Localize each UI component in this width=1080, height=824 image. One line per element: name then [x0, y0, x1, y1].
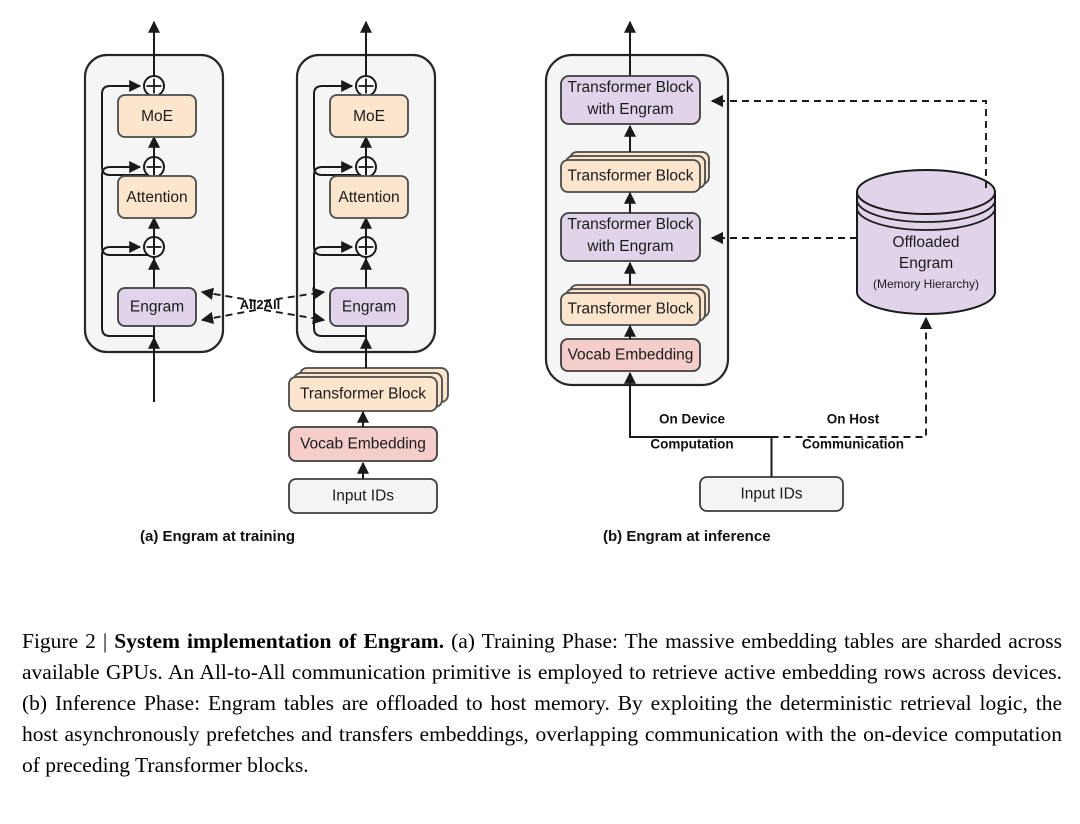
transformer-block-label-b-lower: Transformer Block: [567, 301, 693, 318]
moe-label-right: MoE: [353, 108, 385, 125]
offloaded-engram-line3: (Memory Hierarchy): [873, 277, 979, 291]
offloaded-engram-cylinder[interactable]: Offloaded Engram (Memory Hierarchy): [857, 170, 995, 314]
vocab-embedding-block-a[interactable]: Vocab Embedding: [289, 427, 437, 461]
vocab-embedding-label-b: Vocab Embedding: [568, 347, 694, 364]
attention-label-right: Attention: [338, 189, 399, 206]
transformer-block-stack-b-lower[interactable]: Transformer Block: [561, 285, 709, 325]
transformer-block-with-engram-top-line2: with Engram: [586, 101, 673, 118]
attention-block-right[interactable]: Attention: [330, 176, 408, 218]
transformer-block-with-engram-top-line1: Transformer Block: [567, 79, 693, 96]
add-node-moe-right: [356, 76, 376, 96]
engram-label-right: Engram: [342, 299, 396, 316]
transformer-block-stack-a[interactable]: Transformer Block: [289, 368, 448, 411]
on-host-label-line2: Communication: [802, 437, 904, 452]
transformer-block-stack-b-upper[interactable]: Transformer Block: [561, 152, 709, 192]
on-device-label-line1: On Device: [659, 412, 726, 427]
transformer-block-with-engram-top[interactable]: Transformer Block with Engram: [561, 76, 700, 124]
attention-block-left[interactable]: Attention: [118, 176, 196, 218]
engram-block-right[interactable]: Engram: [330, 288, 408, 326]
on-host-label-line1: On Host: [827, 412, 880, 427]
add-node-moe-left: [144, 76, 164, 96]
attention-label-left: Attention: [126, 189, 187, 206]
subcaption-b: (b) Engram at inference: [603, 528, 771, 545]
input-ids-block-b[interactable]: Input IDs: [700, 477, 843, 511]
transformer-block-with-engram-mid-line1: Transformer Block: [567, 216, 693, 233]
input-ids-block-a[interactable]: Input IDs: [289, 479, 437, 513]
transformer-block-with-engram-mid-line2: with Engram: [586, 238, 673, 255]
on-device-label-line2: Computation: [650, 437, 733, 452]
transformer-block-label-b-upper: Transformer Block: [567, 168, 693, 185]
vocab-embedding-block-b[interactable]: Vocab Embedding: [561, 339, 700, 371]
subcaption-a: (a) Engram at training: [140, 528, 295, 545]
moe-block-right[interactable]: MoE: [330, 95, 408, 137]
system-implementation-diagram: MoE Attention Engram: [0, 0, 1080, 600]
engram-label-left: Engram: [130, 299, 184, 316]
vocab-embedding-label-a: Vocab Embedding: [300, 436, 426, 453]
caption-title: System implementation of Engram.: [114, 629, 444, 653]
offloaded-engram-line1: Offloaded: [893, 234, 960, 251]
input-ids-label-a: Input IDs: [332, 488, 394, 505]
all2all-label: All2All: [240, 297, 280, 312]
offloaded-engram-line2: Engram: [899, 255, 953, 272]
caption-prefix: Figure 2 |: [22, 629, 114, 653]
transformer-block-label-a: Transformer Block: [300, 386, 426, 403]
moe-block-left[interactable]: MoE: [118, 95, 196, 137]
transformer-block-with-engram-mid[interactable]: Transformer Block with Engram: [561, 213, 700, 261]
figure-caption: Figure 2 | System implementation of Engr…: [22, 626, 1062, 781]
input-ids-label-b: Input IDs: [740, 486, 802, 503]
moe-label-left: MoE: [141, 108, 173, 125]
figure-2-root: MoE Attention Engram: [0, 0, 1080, 824]
engram-block-left[interactable]: Engram: [118, 288, 196, 326]
